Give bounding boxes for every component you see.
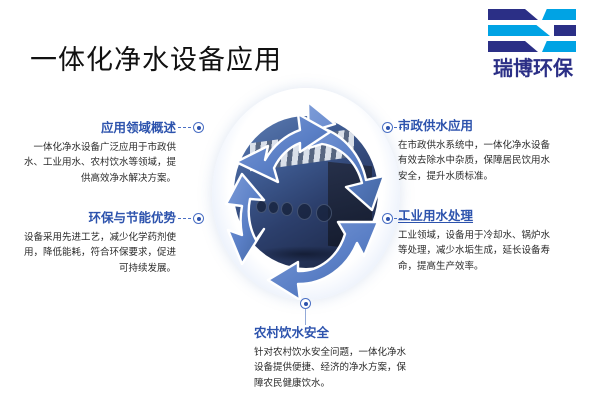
connector-node-industrial (382, 213, 393, 224)
brand-logo: 瑞博环保 (474, 8, 592, 84)
block-overview-heading: 应用领域概述 (18, 120, 176, 135)
slide-canvas: 瑞博环保 一体化净水设备应用 (0, 0, 600, 400)
brand-name: 瑞博环保 (474, 58, 592, 78)
connector-node-municipal (382, 122, 393, 133)
connector-node-rural (300, 298, 311, 309)
block-eco-heading: 环保与节能优势 (18, 210, 176, 225)
block-industrial-heading: 工业用水处理 (398, 208, 550, 223)
block-rural-body: 针对农村饮水安全问题，一体化净水设备提供便捷、经济的净水方案，保障农民健康饮水。 (254, 345, 406, 391)
block-eco-body: 设备采用先进工艺，减少化学药剂使用，降低能耗，符合环保要求，促进可持续发展。 (18, 230, 176, 276)
center-graphic (212, 88, 400, 300)
logo-bar-3-cyan (542, 41, 576, 52)
logo-bar-2-navy (554, 25, 576, 36)
logo-bar-3-navy (488, 41, 538, 52)
connector-line-rural (305, 309, 306, 325)
connector-dash-overview (178, 127, 191, 128)
block-municipal: 市政供水应用 在市政供水系统中，一体化净水设备有效去除水中杂质，保障居民饮用水安… (398, 118, 550, 184)
block-rural: 农村饮水安全 针对农村饮水安全问题，一体化净水设备提供便捷、经济的净水方案，保障… (254, 325, 406, 391)
block-municipal-body: 在市政供水系统中，一体化净水设备有效去除水中杂质，保障居民饮用水安全，提升水质标… (398, 138, 550, 184)
circular-arrows-icon (212, 88, 400, 300)
connector-node-eco (193, 213, 204, 224)
block-rural-heading: 农村饮水安全 (254, 325, 406, 340)
block-municipal-heading: 市政供水应用 (398, 118, 550, 133)
logo-bar-1-navy (488, 9, 538, 20)
block-eco: 环保与节能优势 设备采用先进工艺，减少化学药剂使用，降低能耗，符合环保要求，促进… (18, 210, 176, 276)
page-title: 一体化净水设备应用 (30, 38, 282, 77)
logo-bar-2-cyan (488, 25, 550, 36)
block-industrial-body: 工业领域，设备用于冷却水、锅炉水等处理，减少水垢生成，延长设备寿命，提高生产效率… (398, 228, 550, 274)
logo-mark-icon (488, 8, 578, 54)
logo-bar-1-cyan (542, 9, 576, 20)
connector-dash-eco (178, 218, 191, 219)
connector-node-overview (193, 122, 204, 133)
block-overview: 应用领域概述 一体化净水设备广泛应用于市政供水、工业用水、农村饮水等领域，提供高… (18, 120, 176, 186)
block-overview-body: 一体化净水设备广泛应用于市政供水、工业用水、农村饮水等领域，提供高效净水解决方案… (18, 140, 176, 186)
block-industrial: 工业用水处理 工业领域，设备用于冷却水、锅炉水等处理，减少水垢生成，延长设备寿命… (398, 208, 550, 274)
